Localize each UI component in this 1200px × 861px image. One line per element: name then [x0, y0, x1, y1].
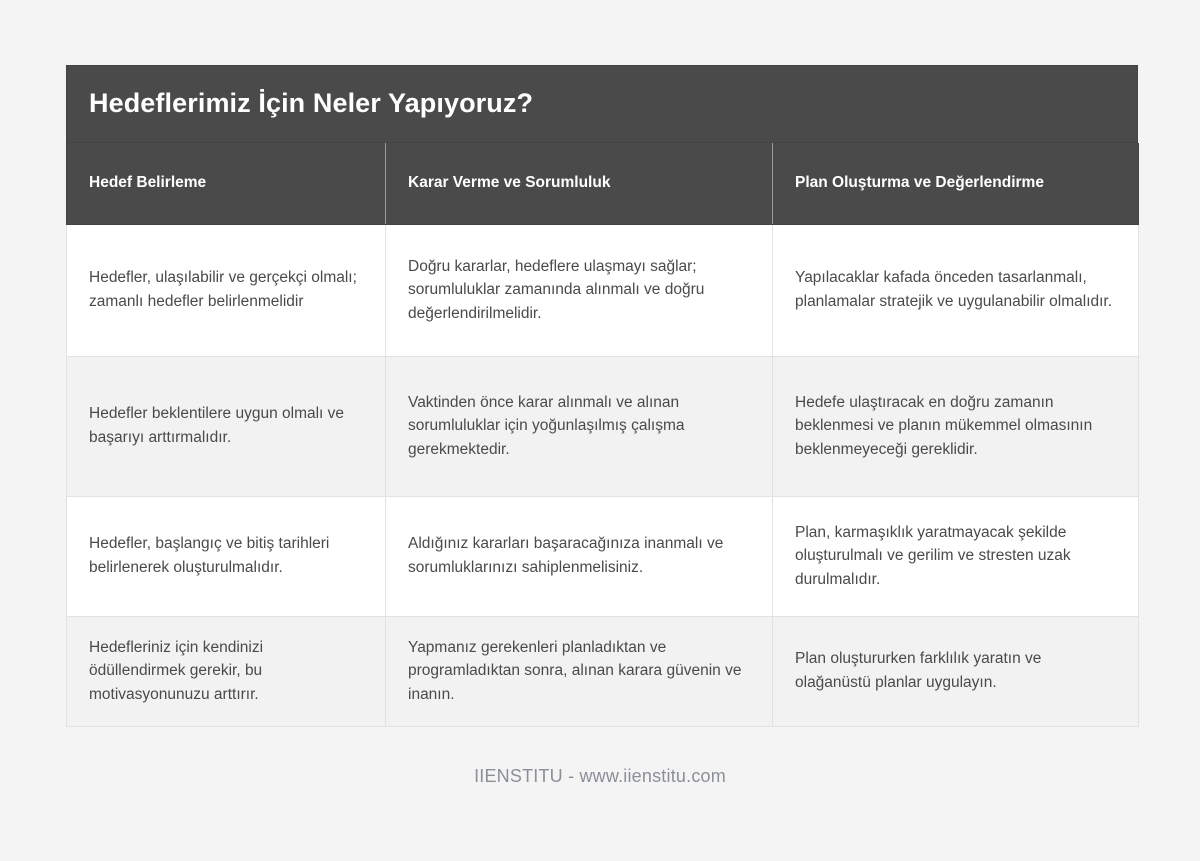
column-header-karar-verme-ve-sorumluluk: Karar Verme ve Sorumluluk [386, 143, 773, 224]
footer-attribution: IIENSTITU - www.iienstitu.com [0, 766, 1200, 787]
page-title: Hedeflerimiz İçin Neler Yapıyoruz? [89, 89, 533, 119]
table-cell: Yapmanız gerekenleri planladıktan ve pro… [386, 616, 773, 726]
table-body: Hedefler, ulaşılabilir ve gerçekçi olmal… [67, 224, 1139, 726]
goals-table: Hedef Belirleme Karar Verme ve Sorumlulu… [66, 143, 1139, 727]
table-row: Hedefler beklentilere uygun olmalı ve ba… [67, 356, 1139, 496]
goals-table-container: Hedeflerimiz İçin Neler Yapıyoruz? Hedef… [66, 65, 1138, 727]
table-cell: Plan, karmaşıklık yaratmayacak şekilde o… [773, 496, 1139, 616]
table-cell: Hedefleriniz için kendinizi ödüllendirme… [67, 616, 386, 726]
table-cell: Hedefler beklentilere uygun olmalı ve ba… [67, 356, 386, 496]
table-header: Hedef Belirleme Karar Verme ve Sorumlulu… [67, 143, 1139, 224]
table-header-row: Hedef Belirleme Karar Verme ve Sorumlulu… [67, 143, 1139, 224]
table-row: Hedefleriniz için kendinizi ödüllendirme… [67, 616, 1139, 726]
table-cell: Hedefe ulaştıracak en doğru zamanın bekl… [773, 356, 1139, 496]
infographic-page: Hedeflerimiz İçin Neler Yapıyoruz? Hedef… [0, 0, 1200, 861]
table-cell: Plan oluştururken farklılık yaratın ve o… [773, 616, 1139, 726]
table-row: Hedefler, ulaşılabilir ve gerçekçi olmal… [67, 224, 1139, 356]
column-header-hedef-belirleme: Hedef Belirleme [67, 143, 386, 224]
table-row: Hedefler, başlangıç ve bitiş tarihleri b… [67, 496, 1139, 616]
table-cell: Yapılacaklar kafada önceden tasarlanmalı… [773, 224, 1139, 356]
title-bar: Hedeflerimiz İçin Neler Yapıyoruz? [66, 65, 1138, 143]
table-cell: Doğru kararlar, hedeflere ulaşmayı sağla… [386, 224, 773, 356]
column-header-plan-olusturma-ve-degerlendirme: Plan Oluşturma ve Değerlendirme [773, 143, 1139, 224]
table-cell: Aldığınız kararları başaracağınıza inanm… [386, 496, 773, 616]
table-cell: Hedefler, başlangıç ve bitiş tarihleri b… [67, 496, 386, 616]
table-cell: Vaktinden önce karar alınmalı ve alınan … [386, 356, 773, 496]
table-cell: Hedefler, ulaşılabilir ve gerçekçi olmal… [67, 224, 386, 356]
